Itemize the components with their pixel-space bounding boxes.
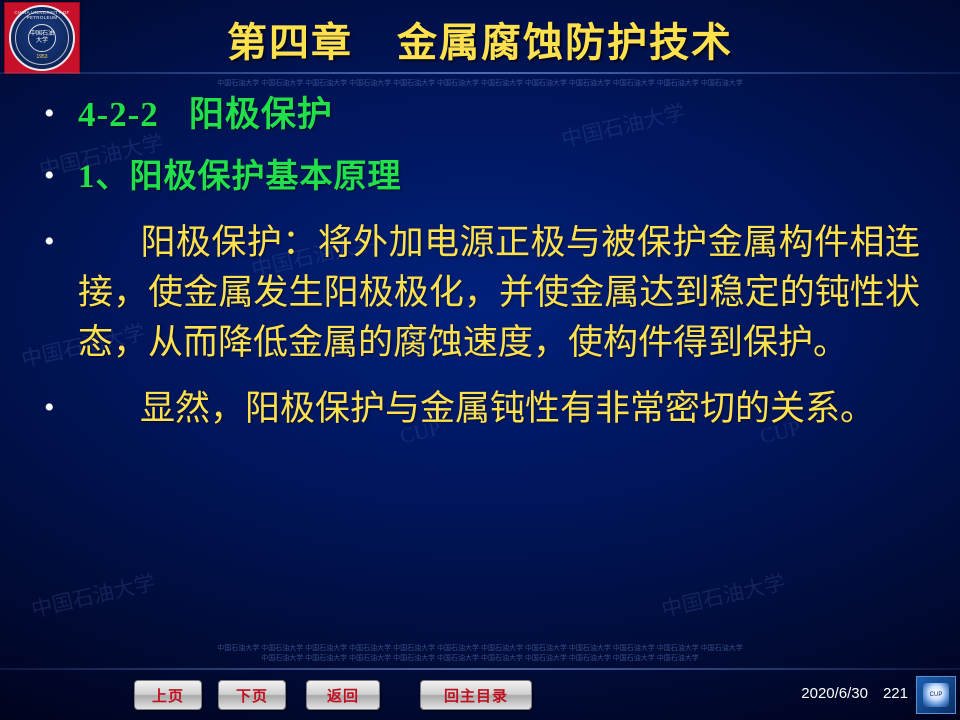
corner-logo-icon: CUP (923, 683, 949, 707)
bullet-marker-icon: • (44, 90, 78, 138)
footer-divider (0, 668, 960, 670)
slide-footer: 上页 下页 返回 回主目录 2020/6/30 221 CUP (0, 668, 960, 720)
header-divider (0, 72, 960, 74)
bullet-body: 显然，阳极保护与金属钝性有非常密切的关系。 (78, 384, 938, 434)
section-title: 阳极保护 (189, 95, 333, 134)
section-number: 4-2-2 (78, 95, 159, 134)
title-subject: 金属腐蚀防护技术 (397, 20, 733, 65)
microtext-band-bottom: 中国石油大学 中国石油大学 中国石油大学 中国石油大学 中国石油大学 中国石油大… (0, 643, 960, 653)
microtext-band-bottom-2: 中国石油大学 中国石油大学 中国石油大学 中国石油大学 中国石油大学 中国石油大… (0, 653, 960, 663)
subsection-heading: 1、阳极保护基本原理 (78, 152, 938, 202)
corner-logo: CUP (916, 676, 956, 714)
paragraph-text: 阳极保护：将外加电源正极与被保护金属构件相连接，使金属发生阳极极化，并使金属达到… (78, 223, 920, 362)
bullet-body: 1、阳极保护基本原理 (78, 152, 938, 202)
paragraph-text: 显然，阳极保护与金属钝性有非常密切的关系。 (140, 389, 875, 428)
slide: 中国石油大学 中国石油大学 中国石油大学 CUP CUP 中国石油大学 中国石油… (0, 0, 960, 720)
bullet-body: 阳极保护：将外加电源正极与被保护金属构件相连接，使金属发生阳极极化，并使金属达到… (78, 218, 938, 368)
watermark-text: 中国石油大学 (658, 566, 788, 624)
prev-page-button[interactable]: 上页 (134, 680, 202, 710)
date-label: 2020/6/30 (801, 685, 868, 702)
paragraph-conclusion: 显然，阳极保护与金属钝性有非常密切的关系。 (78, 384, 938, 434)
page-title: 第四章金属腐蚀防护技术 (0, 10, 960, 68)
bullet-marker-icon: • (44, 152, 78, 200)
paragraph-definition: 阳极保护：将外加电源正极与被保护金属构件相连接，使金属发生阳极极化，并使金属达到… (78, 218, 938, 368)
bullet-item-subsection: • 1、阳极保护基本原理 (0, 152, 960, 202)
watermark-text: 中国石油大学 (28, 566, 158, 624)
bullet-item-paragraph-1: • 阳极保护：将外加电源正极与被保护金属构件相连接，使金属发生阳极极化，并使金属… (0, 218, 960, 368)
main-menu-button[interactable]: 回主目录 (420, 680, 532, 710)
slide-header: CHINA UNIVERSITY OF PETROLEUM 中国石油大学 195… (0, 0, 960, 70)
page-number: 221 (883, 685, 908, 702)
bullet-marker-icon: • (44, 218, 78, 266)
title-chapter: 第四章 (227, 20, 353, 65)
bullet-marker-icon: • (44, 384, 78, 432)
section-heading: 4-2-2阳极保护 (78, 90, 938, 140)
bullet-item-paragraph-2: • 显然，阳极保护与金属钝性有非常密切的关系。 (0, 384, 960, 434)
back-button[interactable]: 返回 (306, 680, 380, 710)
bullet-item-section: • 4-2-2阳极保护 (0, 90, 960, 140)
next-page-button[interactable]: 下页 (218, 680, 286, 710)
slide-content: • 4-2-2阳极保护 • 1、阳极保护基本原理 • 阳极保护：将外加电源正极与… (0, 86, 960, 434)
bullet-body: 4-2-2阳极保护 (78, 90, 938, 140)
